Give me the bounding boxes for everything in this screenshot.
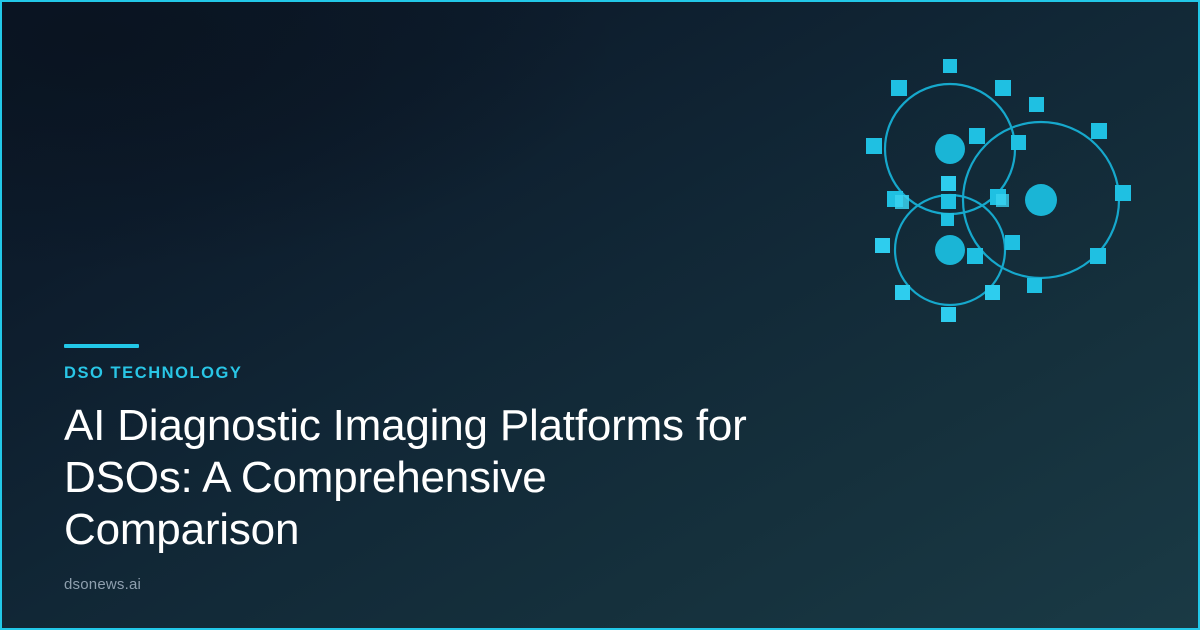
social-share-card: DSO TECHNOLOGY AI Diagnostic Imaging Pla… xyxy=(0,0,1200,630)
node-square xyxy=(875,238,890,253)
node-square xyxy=(941,194,956,209)
page-title: AI Diagnostic Imaging Platforms for DSOs… xyxy=(64,400,764,556)
node-square xyxy=(943,59,957,73)
node-square xyxy=(996,194,1009,207)
node-square xyxy=(891,80,907,96)
node-square xyxy=(969,128,985,144)
center-dot-top-left xyxy=(935,134,965,164)
node-square xyxy=(941,307,956,322)
node-square xyxy=(1091,123,1107,139)
card-content-block: DSO TECHNOLOGY AI Diagnostic Imaging Pla… xyxy=(64,344,824,556)
node-square xyxy=(985,285,1000,300)
decorative-network-graphic xyxy=(845,45,1175,345)
node-square xyxy=(866,138,882,154)
node-square xyxy=(967,248,983,264)
node-square xyxy=(895,195,909,209)
center-dot-bottom-left xyxy=(935,235,965,265)
node-square xyxy=(941,213,954,226)
node-square xyxy=(1027,278,1042,293)
node-square xyxy=(1090,248,1106,264)
node-square xyxy=(895,285,910,300)
center-dot-right xyxy=(1025,184,1057,216)
node-square xyxy=(995,80,1011,96)
node-square xyxy=(1115,185,1131,201)
category-eyebrow: DSO TECHNOLOGY xyxy=(64,365,824,382)
site-domain-label: dsonews.ai xyxy=(64,577,141,592)
node-square xyxy=(1005,235,1020,250)
node-square xyxy=(1029,97,1044,112)
node-square xyxy=(1011,135,1026,150)
node-square xyxy=(941,176,956,191)
accent-bar xyxy=(64,344,139,348)
